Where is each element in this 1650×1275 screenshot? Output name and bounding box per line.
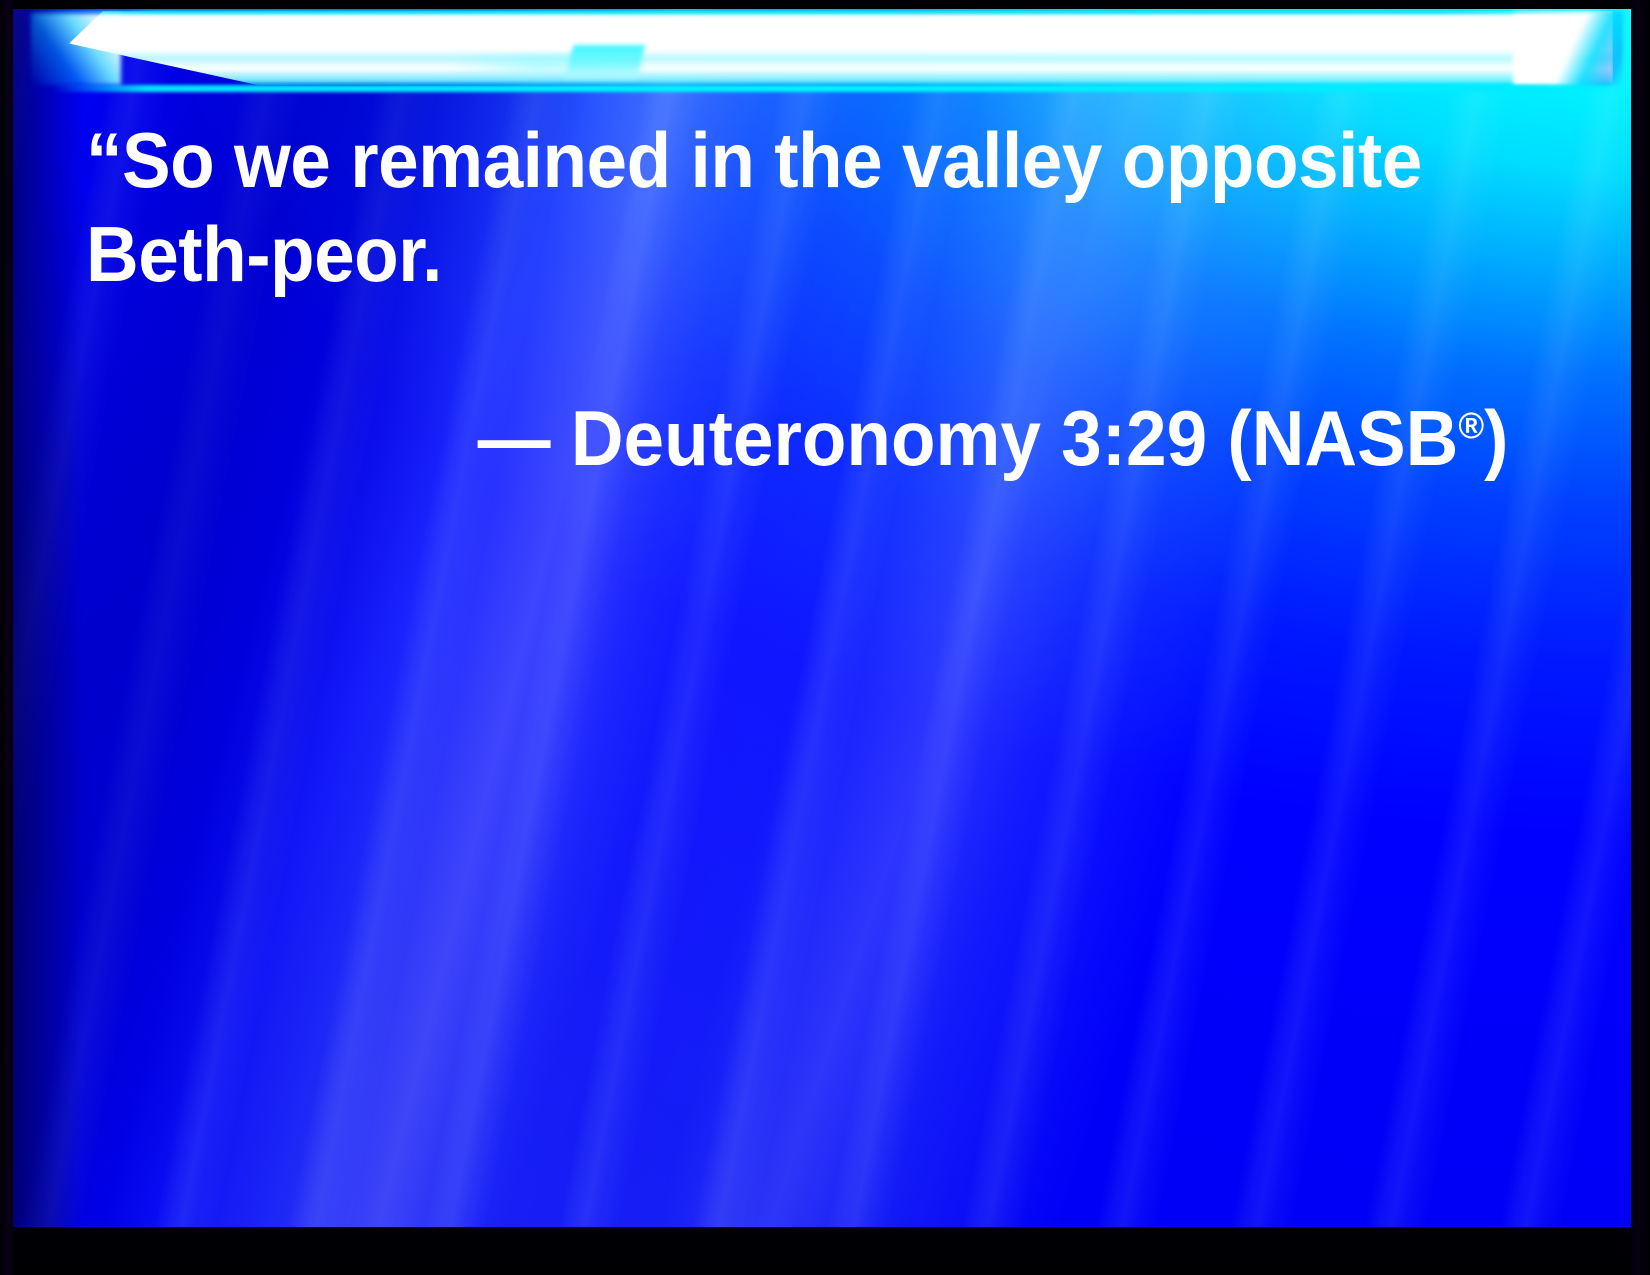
- frame-border-right: [1631, 0, 1650, 1275]
- registered-trademark-icon: ®: [1458, 404, 1484, 446]
- quote-line-1: “So we remained in the valley opposite: [86, 113, 1489, 207]
- attribution-reference: 3:29: [1061, 394, 1207, 482]
- scripture-quote: “So we remained in the valley opposite B…: [86, 113, 1586, 301]
- attribution-book: Deuteronomy: [570, 394, 1040, 482]
- attribution-translation-close: ): [1484, 394, 1508, 482]
- quote-line-2: Beth-peor.: [86, 207, 1489, 301]
- slide-background: “So we remained in the valley opposite B…: [13, 9, 1631, 1227]
- slide-root: “So we remained in the valley opposite B…: [0, 0, 1650, 1275]
- frame-border-top: [0, 0, 1650, 9]
- attribution-em-dash: —: [477, 394, 570, 482]
- slide-text-layer: “So we remained in the valley opposite B…: [13, 9, 1631, 1227]
- attribution-translation-open: (NASB: [1207, 394, 1458, 482]
- attribution-inner: — Deuteronomy 3:29 (NASB®): [477, 391, 1508, 485]
- frame-border-bottom: [0, 1227, 1650, 1275]
- frame-border-left: [0, 0, 13, 1275]
- scripture-attribution: — Deuteronomy 3:29 (NASB®): [86, 297, 1508, 579]
- attribution-space: [1040, 394, 1060, 482]
